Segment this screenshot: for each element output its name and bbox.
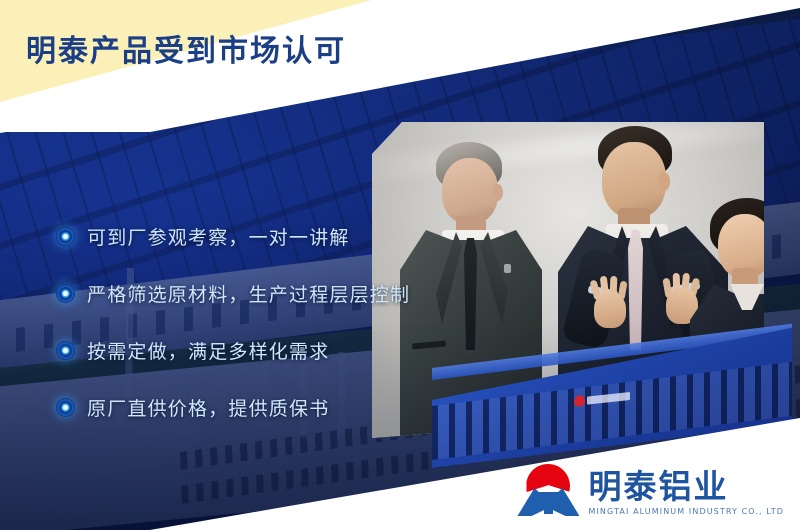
logo-text-block: 明泰铝业 MINGTAI ALUMINUM INDUSTRY CO., LTD (588, 469, 784, 516)
lapel-badge (504, 264, 511, 273)
promo-banner: 明泰产品受到市场认可 可到厂参观考察，一对一讲解 严格筛选原材料，生产过程层层控… (0, 0, 800, 530)
feature-item: 严格筛选原材料，生产过程层层控制 (56, 265, 416, 321)
feature-label: 可到厂参观考察，一对一讲解 (87, 223, 350, 250)
head (602, 142, 666, 218)
company-name-cn: 明泰铝业 (588, 469, 784, 505)
feature-label: 按需定做，满足多样化需求 (87, 337, 329, 364)
feature-item: 可到厂参观考察，一对一讲解 (56, 208, 416, 264)
feature-list: 可到厂参观考察，一对一讲解 严格筛选原材料，生产过程层层控制 按需定做，满足多样… (56, 208, 416, 436)
feature-label: 原厂直供价格，提供质保书 (87, 394, 329, 421)
ear (658, 172, 670, 191)
target-ring-icon (56, 284, 75, 303)
sign-text-bar (587, 392, 630, 405)
ear (492, 184, 503, 201)
hand-left (594, 292, 626, 328)
company-name-en: MINGTAI ALUMINUM INDUSTRY CO., LTD (588, 507, 784, 516)
company-logo: 明泰铝业 MINGTAI ALUMINUM INDUSTRY CO., LTD (517, 464, 784, 516)
feature-item: 原厂直供价格，提供质保书 (56, 379, 416, 435)
necktie (628, 230, 643, 350)
letter-t-icon (544, 492, 553, 514)
target-ring-icon (56, 227, 75, 246)
page-title: 明泰产品受到市场认可 (26, 26, 346, 70)
feature-item: 按需定做，满足多样化需求 (56, 322, 416, 378)
sign-mark-icon (574, 395, 585, 407)
target-ring-icon (56, 398, 75, 417)
head (442, 158, 498, 224)
target-ring-icon (56, 341, 75, 360)
necktie (464, 238, 477, 350)
mingtai-sun-mountain-icon (517, 464, 579, 516)
feature-label: 严格筛选原材料，生产过程层层控制 (87, 280, 410, 307)
